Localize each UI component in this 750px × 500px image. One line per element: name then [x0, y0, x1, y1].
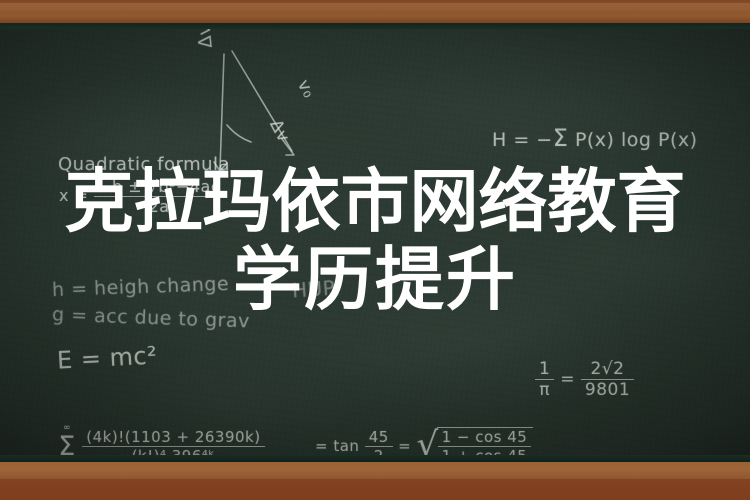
inverse-pi-right-fraction: 2√2 9801 — [581, 359, 634, 400]
entropy-lhs: H = − — [492, 129, 553, 151]
ramanujan-fraction: (4k)!(1103 + 26390k) (k!)⁴ 396⁴ᵏ — [82, 428, 264, 455]
board-edge-bottom — [0, 455, 750, 462]
ramanujan-numerator: (4k)!(1103 + 26390k) — [82, 428, 264, 446]
page-title-line-1: 克拉玛依市网络教育 — [0, 163, 750, 241]
note-half-angle-tangent-identity: = tan 45 2 = √ 1 − cos 45 1 + cos 45 — [315, 427, 533, 455]
ramanujan-denominator: (k!)⁴ 396⁴ᵏ — [82, 446, 264, 455]
frame-top-highlight — [0, 3, 750, 12]
half-angle-argument-fraction: 45 2 — [365, 428, 393, 455]
half-angle-equals: = — [398, 437, 411, 455]
note-inverse-pi-constant: 1 π = 2√2 9801 — [535, 359, 634, 400]
sigma-icon: Σ — [57, 433, 77, 455]
half-angle-argument-numerator: 45 — [365, 428, 393, 446]
inverse-pi-left-fraction: 1 π — [535, 359, 554, 400]
half-angle-inner-numerator: 1 − cos 45 — [438, 428, 532, 446]
frame-bottom-wood — [0, 479, 750, 500]
chalkboard-poster: Δv = vf - vi v₀ Δv H = −Σ P(x) log P(x) … — [0, 0, 750, 500]
radical-content: 1 − cos 45 1 + cos 45 — [437, 427, 534, 455]
sigma-icon: Σ — [553, 124, 569, 152]
inverse-pi-equals: = — [560, 370, 575, 390]
half-angle-inner-denominator: 1 + cos 45 — [438, 446, 532, 455]
frame-chalk-ledge — [0, 462, 750, 479]
page-title: 克拉玛依市网络教育 学历提升 — [0, 163, 750, 319]
inverse-pi-right-numerator: 2√2 — [581, 359, 634, 379]
frame-top-wood — [0, 0, 750, 23]
note-delta-v-definition: Δv = vf - vi — [185, 29, 217, 49]
page-title-line-2: 学历提升 — [0, 241, 750, 319]
note-shannon-entropy-formula: H = −Σ P(x) log P(x) — [492, 124, 698, 152]
summation-operator: ∞ Σ k=0 — [57, 424, 77, 455]
inverse-pi-denominator: π — [535, 379, 554, 400]
half-angle-lhs: = tan — [315, 437, 359, 455]
inverse-pi-numerator: 1 — [535, 359, 554, 379]
note-mass-energy-equivalence: E = mc² — [56, 341, 158, 374]
note-ramanujan-pi-series: ∞ Σ k=0 (4k)!(1103 + 26390k) (k!)⁴ 396⁴ᵏ — [57, 424, 265, 455]
half-angle-inner-fraction: 1 − cos 45 1 + cos 45 — [438, 428, 532, 455]
inverse-pi-right-denominator: 9801 — [581, 379, 634, 400]
half-angle-radical: √ 1 − cos 45 1 + cos 45 — [416, 427, 533, 455]
entropy-rhs: P(x) log P(x) — [575, 129, 698, 151]
half-angle-argument-denominator: 2 — [365, 446, 393, 455]
